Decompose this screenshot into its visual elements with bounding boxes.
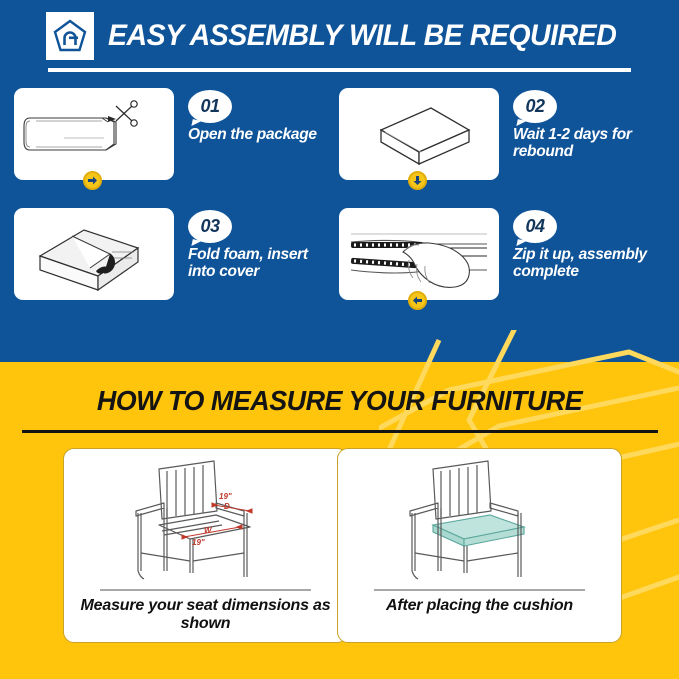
step-label: Fold foam, insert into cover	[188, 247, 338, 280]
panel-caption: After placing the cushion	[348, 597, 611, 615]
step-number-badge: 03	[188, 210, 232, 243]
step-label: Open the package	[188, 127, 338, 144]
chair-with-dimensions-icon: 19" D W 19"	[64, 453, 347, 583]
chair-with-cushion-icon	[338, 453, 621, 583]
measure-panels: 19" D W 19" Measure your seat dimensions…	[0, 448, 679, 653]
house-pentagon-logo-icon	[46, 12, 94, 60]
step-text-block: 04 Zip it up, assembly complete	[513, 208, 663, 280]
step-number: 02	[525, 96, 544, 117]
step-text-block: 02 Wait 1-2 days for rebound	[513, 88, 663, 160]
step-item-02: 02 Wait 1-2 days for rebound	[339, 88, 663, 180]
step-label: Zip it up, assembly complete	[513, 247, 663, 280]
step-number: 03	[200, 216, 219, 237]
hand-zipper-icon	[339, 208, 499, 300]
package-scissors-icon	[14, 88, 174, 180]
arrow-right-icon	[83, 171, 102, 190]
step-number-badge: 02	[513, 90, 557, 123]
dimension-depth-axis: D	[224, 502, 230, 511]
step-text-block: 03 Fold foam, insert into cover	[188, 208, 338, 280]
measure-title: HOW TO MEASURE YOUR FURNITURE	[14, 385, 666, 417]
step-illustration-card	[14, 88, 174, 180]
step-label: Wait 1-2 days for rebound	[513, 127, 663, 160]
dimension-width-value: 19"	[192, 538, 205, 547]
step-illustration-card	[14, 208, 174, 300]
foam-into-cover-icon	[14, 208, 174, 300]
measure-divider	[22, 430, 658, 433]
step-number-badge: 04	[513, 210, 557, 243]
step-text-block: 01 Open the package	[188, 88, 338, 144]
step-number: 01	[200, 96, 219, 117]
step-number-badge: 01	[188, 90, 232, 123]
panel-divider	[374, 589, 585, 591]
measure-panel-cushion: After placing the cushion	[337, 448, 622, 643]
panel-caption: Measure your seat dimensions as shown	[74, 597, 337, 634]
step-item-03: 03 Fold foam, insert into cover	[14, 208, 338, 300]
step-illustration-card	[339, 88, 499, 180]
infographic-root: EASY ASSEMBLY WILL BE REQUIRED	[0, 0, 679, 679]
dimension-depth-value: 19"	[219, 492, 232, 501]
measure-panel-dimensions: 19" D W 19" Measure your seat dimensions…	[63, 448, 348, 643]
step-number: 04	[525, 216, 544, 237]
step-item-04: 04 Zip it up, assembly complete	[339, 208, 663, 300]
steps-grid: 01 Open the package	[0, 88, 679, 318]
panel-divider	[100, 589, 311, 591]
step-item-01: 01 Open the package	[14, 88, 338, 180]
step-illustration-card	[339, 208, 499, 300]
header-divider	[48, 68, 631, 72]
section-header: EASY ASSEMBLY WILL BE REQUIRED	[0, 8, 679, 64]
arrow-down-icon	[408, 171, 427, 190]
page-title: EASY ASSEMBLY WILL BE REQUIRED	[108, 21, 616, 51]
flat-foam-cushion-icon	[339, 88, 499, 180]
